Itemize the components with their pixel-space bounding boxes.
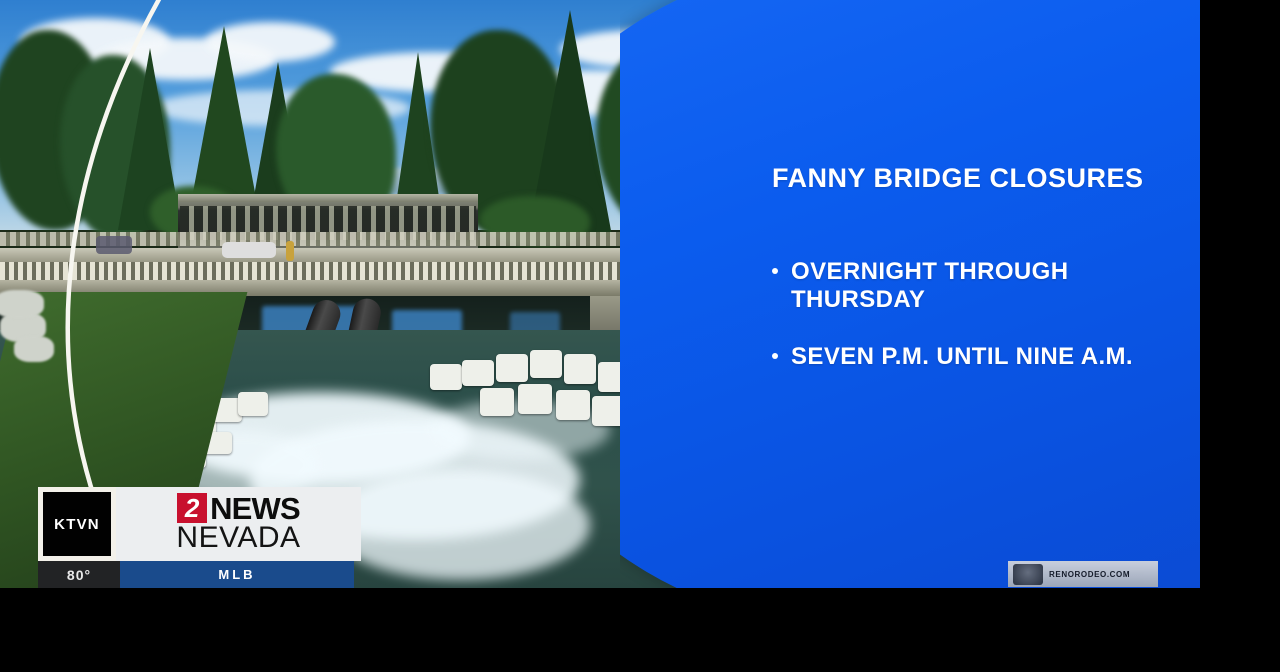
callsign-box: KTVN <box>38 487 116 561</box>
sandbag <box>430 364 462 390</box>
list-item: SEVEN P.M. UNTIL NINE A.M. <box>772 343 1177 371</box>
channel-number-badge: 2 <box>177 493 207 523</box>
sandbag <box>462 360 494 386</box>
league-label: MLB <box>218 567 255 582</box>
callsign-text: KTVN <box>54 516 100 533</box>
info-panel: FANNY BRIDGE CLOSURES OVERNIGHT THROUGH … <box>620 0 1200 588</box>
league-cell: MLB <box>120 561 354 588</box>
video-frame: FANNY BRIDGE CLOSURES OVERNIGHT THROUGH … <box>0 0 1200 588</box>
bridge-balustrade <box>0 262 700 282</box>
upper-bridge-rail <box>178 194 478 202</box>
pedestrian-group <box>96 236 132 254</box>
panel-headline: FANNY BRIDGE CLOSURES <box>772 163 1172 193</box>
sandbag <box>556 390 590 420</box>
sandbag <box>238 392 268 416</box>
list-item: OVERNIGHT THROUGH THURSDAY <box>772 258 1177 315</box>
temperature-value: 80° <box>67 567 91 583</box>
ticker-bar: 80° MLB <box>38 561 354 588</box>
news-word: NEWS <box>210 493 300 524</box>
rodeo-logo-icon <box>1013 564 1043 585</box>
pedestrian <box>286 241 294 261</box>
rock <box>0 290 44 318</box>
parked-car <box>222 242 276 258</box>
panel-bullet-list: OVERNIGHT THROUGH THURSDAY SEVEN P.M. UN… <box>772 258 1177 399</box>
callsign-inner: KTVN <box>43 492 111 556</box>
temperature-cell: 80° <box>38 561 120 588</box>
sandbag <box>480 388 514 416</box>
sponsor-url: RENORODEO.COM <box>1049 570 1130 579</box>
sandbag <box>496 354 528 382</box>
rock <box>14 336 54 362</box>
sandbag <box>530 350 562 378</box>
sandbag <box>564 354 596 384</box>
station-branding: KTVN 2 NEWS NEVADA <box>38 487 361 561</box>
broadcast-screenshot: FANNY BRIDGE CLOSURES OVERNIGHT THROUGH … <box>0 0 1280 672</box>
region-word: NEVADA <box>176 522 300 554</box>
sponsor-bug: RENORODEO.COM <box>1008 561 1158 587</box>
news-logo-box: 2 NEWS NEVADA <box>116 487 361 561</box>
news-logo-row: 2 NEWS <box>177 493 300 524</box>
whitewater <box>330 470 590 580</box>
channel-number-text: 2 <box>185 495 199 521</box>
sandbag <box>518 384 552 414</box>
